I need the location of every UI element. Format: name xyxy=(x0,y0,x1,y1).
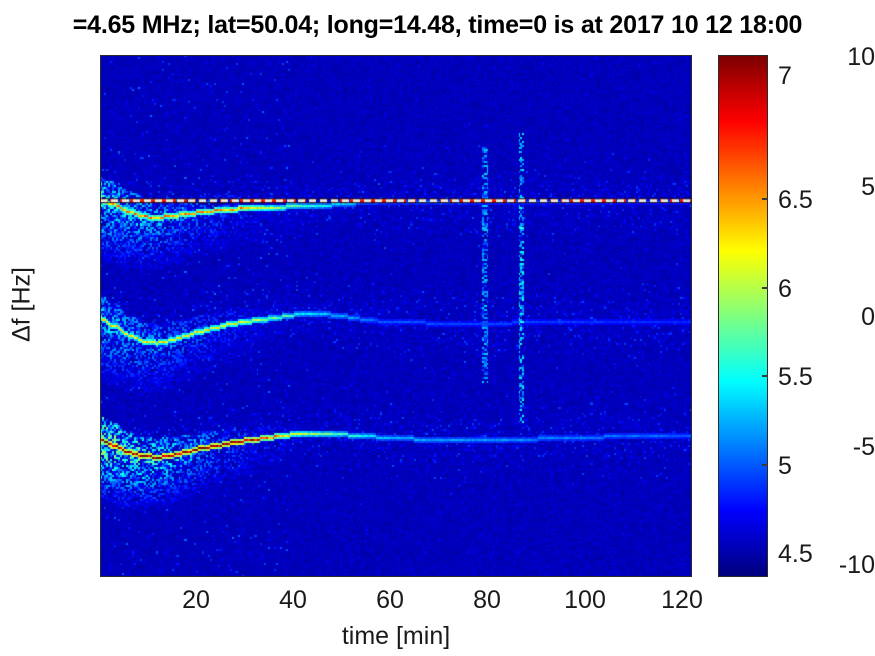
x-tick-label: 60 xyxy=(340,586,440,615)
colorbar-tick-mark xyxy=(762,464,768,466)
x-tick-label: 80 xyxy=(437,586,537,615)
colorbar-tick-label: 5 xyxy=(778,452,868,481)
x-tick-label: 40 xyxy=(243,586,343,615)
x-tick-label: 100 xyxy=(535,586,635,615)
colorbar-tick-mark xyxy=(762,375,768,377)
heatmap-canvas[interactable] xyxy=(100,55,692,577)
heatmap-plot-area[interactable] xyxy=(100,55,692,577)
page-title: =4.65 MHz; lat=50.04; long=14.48, time=0… xyxy=(0,11,875,40)
colorbar-tick-label: 6 xyxy=(778,275,868,304)
colorbar-tick-label: 5.5 xyxy=(778,363,868,392)
y-axis-label: Δf [Hz] xyxy=(8,175,37,435)
colorbar-tick-mark xyxy=(762,198,768,200)
x-tick-label: 20 xyxy=(146,586,246,615)
colorbar-tick-label: 7 xyxy=(778,62,868,91)
colorbar-tick-label: 6.5 xyxy=(778,186,868,215)
colorbar-tick-label: 4.5 xyxy=(778,540,868,569)
x-tick-label: 120 xyxy=(632,586,732,615)
x-axis-label: time [min] xyxy=(100,622,692,651)
y-tick-label: 0 xyxy=(783,303,875,332)
spectrogram-figure: =4.65 MHz; lat=50.04; long=14.48, time=0… xyxy=(0,0,875,656)
colorbar[interactable] xyxy=(718,55,768,577)
colorbar-tick-mark xyxy=(762,287,768,289)
colorbar-gradient xyxy=(719,56,767,576)
